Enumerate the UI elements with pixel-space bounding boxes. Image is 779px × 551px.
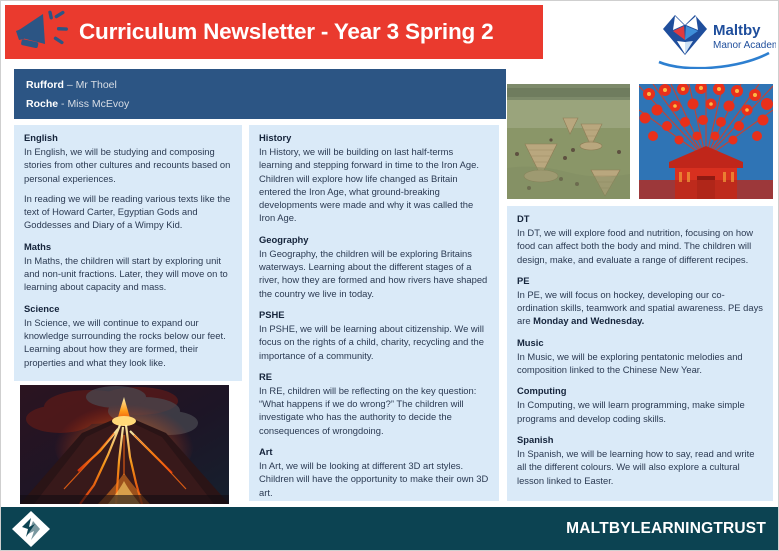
teacher-name-roche: Miss McEvoy	[67, 98, 129, 110]
subject-heading-history: History	[259, 131, 489, 144]
subject-text-computing-1: In Computing, we will learn programming,…	[517, 398, 763, 425]
subject-heading-pe: PE	[517, 274, 763, 287]
teacher-entry-rufford: Rufford – Mr Thoel	[26, 76, 494, 95]
subject-text-geography-1: In Geography, the children will be explo…	[259, 247, 489, 300]
teacher-banner: Rufford – Mr Thoel Roche - Miss McEvoy	[14, 69, 506, 119]
separator-rufford: –	[64, 79, 76, 91]
logo-swoosh	[659, 53, 769, 68]
subject-music: Music In Music, we will be exploring pen…	[517, 336, 763, 377]
subject-heading-dt: DT	[517, 212, 763, 225]
subject-text-maths-1: In Maths, the children will start by exp…	[24, 254, 232, 294]
page-title: Curriculum Newsletter - Year 3 Spring 2	[79, 19, 493, 45]
megaphone-icon	[13, 10, 69, 54]
subject-dt: DT In DT, we will explore food and nutri…	[517, 212, 763, 266]
subject-text-spanish-1: In Spanish, we will be learning how to s…	[517, 447, 763, 487]
logo-text-line2: Manor Academy	[713, 40, 776, 51]
class-name-roche: Roche	[26, 98, 58, 110]
subject-heading-english: English	[24, 131, 232, 144]
subject-re: RE In RE, children will be reflecting on…	[259, 370, 489, 437]
iron-age-roundhouses-photo	[507, 84, 630, 199]
subject-computing: Computing In Computing, we will learn pr…	[517, 384, 763, 425]
subject-heading-maths: Maths	[24, 240, 232, 253]
footer-trust-name: MALTBYLEARNINGTRUST	[566, 520, 766, 538]
subject-text-english-1: In English, we will be studying and comp…	[24, 145, 232, 185]
subject-spanish: Spanish In Spanish, we will be learning …	[517, 433, 763, 487]
teacher-entry-roche: Roche - Miss McEvoy	[26, 95, 494, 114]
subject-text-pe-1: In PE, we will focus on hockey, developi…	[517, 288, 763, 328]
subject-heading-music: Music	[517, 336, 763, 349]
subject-heading-spanish: Spanish	[517, 433, 763, 446]
subject-text-music-1: In Music, we will be exploring pentatoni…	[517, 350, 763, 377]
maltby-manor-academy-logo: Maltby Manor Academy	[651, 7, 776, 69]
logo-diamond-mark	[663, 15, 707, 55]
chinese-new-year-lanterns-photo	[639, 84, 773, 199]
subject-pshe: PSHE In PSHE, we will be learning about …	[259, 308, 489, 362]
subject-text-science-1: In Science, we will continue to expand o…	[24, 316, 232, 369]
subject-text-art-1: In Art, we will be looking at different …	[259, 459, 489, 499]
subject-text-english-2: In reading we will be reading various te…	[24, 192, 232, 232]
teacher-name-rufford: Mr Thoel	[76, 79, 117, 91]
subject-text-re-1: In RE, children will be reflecting on th…	[259, 384, 489, 437]
subjects-column-middle: History In History, we will be building …	[249, 125, 499, 501]
subject-text-history-1: In History, we will be building on last …	[259, 145, 489, 225]
volcano-eruption-photo	[20, 385, 229, 504]
subject-heading-re: RE	[259, 370, 489, 383]
subject-english: English In English, we will be studying …	[24, 131, 232, 232]
subject-text-dt-1: In DT, we will explore food and nutritio…	[517, 226, 763, 266]
subjects-column-left: English In English, we will be studying …	[14, 125, 242, 381]
subject-text-pshe-1: In PSHE, we will be learning about citiz…	[259, 322, 489, 362]
subject-text-pe-bold: Monday and Wednesday.	[533, 315, 644, 326]
subject-heading-art: Art	[259, 445, 489, 458]
subject-heading-geography: Geography	[259, 233, 489, 246]
subject-science: Science In Science, we will continue to …	[24, 302, 232, 369]
class-name-rufford: Rufford	[26, 79, 64, 91]
subject-history: History In History, we will be building …	[259, 131, 489, 225]
newsletter-page: Curriculum Newsletter - Year 3 Spring 2 …	[0, 0, 779, 551]
subject-pe: PE In PE, we will focus on hockey, devel…	[517, 274, 763, 328]
footer-bar: MALTBYLEARNINGTRUST	[1, 507, 779, 550]
maltby-learning-trust-diamond-logo	[9, 510, 53, 548]
subject-heading-science: Science	[24, 302, 232, 315]
logo-text-line1: Maltby	[713, 22, 761, 39]
header-bar: Curriculum Newsletter - Year 3 Spring 2	[5, 5, 543, 59]
subject-heading-pshe: PSHE	[259, 308, 489, 321]
subject-heading-computing: Computing	[517, 384, 763, 397]
subject-maths: Maths In Maths, the children will start …	[24, 240, 232, 294]
subjects-column-right: DT In DT, we will explore food and nutri…	[507, 206, 773, 501]
subject-art: Art In Art, we will be looking at differ…	[259, 445, 489, 499]
subject-geography: Geography In Geography, the children wil…	[259, 233, 489, 300]
